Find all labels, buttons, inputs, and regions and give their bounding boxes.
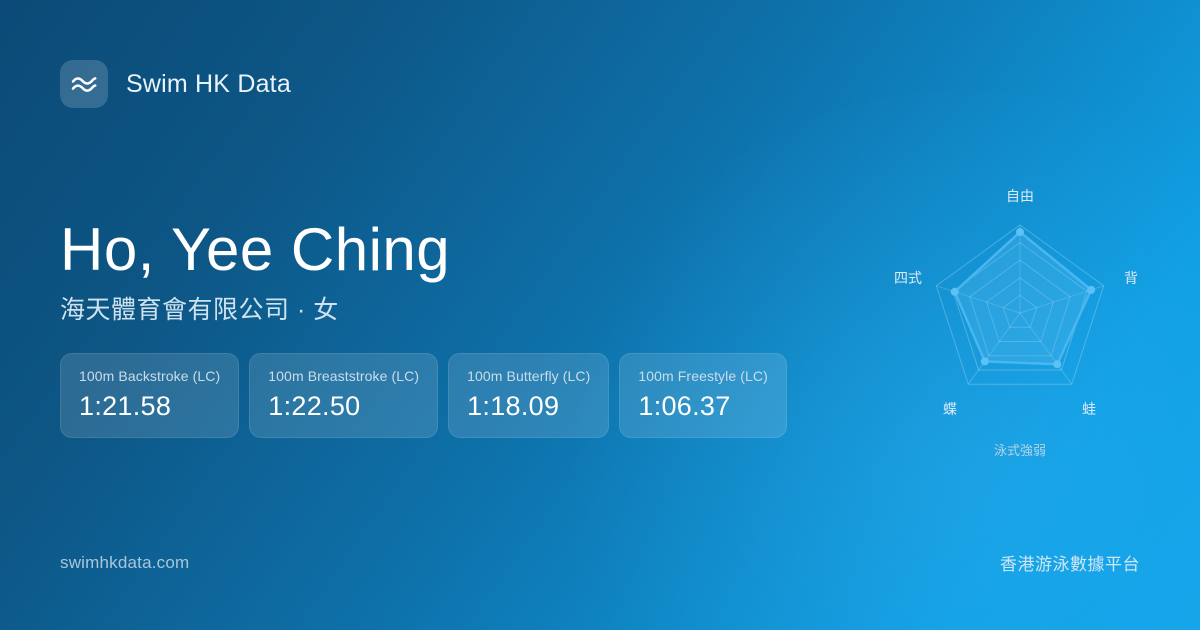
radar-axis-label: 四式 xyxy=(894,270,922,286)
stat-card[interactable]: 100m Butterfly (LC) 1:18.09 xyxy=(448,353,609,438)
footer-site-url[interactable]: swimhkdata.com xyxy=(60,553,189,573)
og-card: Swim HK Data Ho, Yee Ching 海天體育會有限公司 · 女… xyxy=(0,0,1200,630)
footer-tagline: 香港游泳數據平台 xyxy=(1000,550,1140,575)
radar-caption: 泳式強弱 xyxy=(994,443,1046,458)
stat-card-label: 100m Freestyle (LC) xyxy=(638,369,768,384)
stat-card-label: 100m Breaststroke (LC) xyxy=(268,369,419,384)
stat-card-value: 1:06.37 xyxy=(638,392,768,420)
athlete-meta: 海天體育會有限公司 · 女 xyxy=(60,295,450,325)
radar-series-area xyxy=(955,232,1091,364)
radar-axis-label: 自由 xyxy=(1006,188,1034,204)
radar-data-point xyxy=(1016,228,1024,236)
radar-data-point xyxy=(1053,360,1061,368)
radar-data-point xyxy=(1087,286,1095,294)
stat-card-value: 1:18.09 xyxy=(467,392,590,420)
stat-card-value: 1:22.50 xyxy=(268,392,419,420)
radar-axis-label: 蛙 xyxy=(1082,401,1096,417)
hero: Ho, Yee Ching 海天體育會有限公司 · 女 xyxy=(60,218,450,325)
brand: Swim HK Data xyxy=(60,60,291,108)
stat-card-label: 100m Butterfly (LC) xyxy=(467,369,590,384)
radar-chart: 自由背蛙蝶四式 泳式強弱 xyxy=(870,170,1170,470)
wave-icon xyxy=(60,60,108,108)
stat-card-row: 100m Backstroke (LC) 1:21.58 100m Breast… xyxy=(60,353,787,438)
radar-axis-label: 蝶 xyxy=(943,401,957,417)
stat-card-label: 100m Backstroke (LC) xyxy=(79,369,220,384)
radar-axis-label: 背 xyxy=(1124,270,1138,286)
radar-data-point xyxy=(981,357,989,365)
stat-card-value: 1:21.58 xyxy=(79,392,220,420)
stat-card[interactable]: 100m Breaststroke (LC) 1:22.50 xyxy=(249,353,438,438)
stat-card[interactable]: 100m Backstroke (LC) 1:21.58 xyxy=(60,353,239,438)
radar-data-point xyxy=(951,288,959,296)
stat-card[interactable]: 100m Freestyle (LC) 1:06.37 xyxy=(619,353,787,438)
brand-name: Swim HK Data xyxy=(126,70,291,99)
page-title: Ho, Yee Ching xyxy=(60,218,450,283)
